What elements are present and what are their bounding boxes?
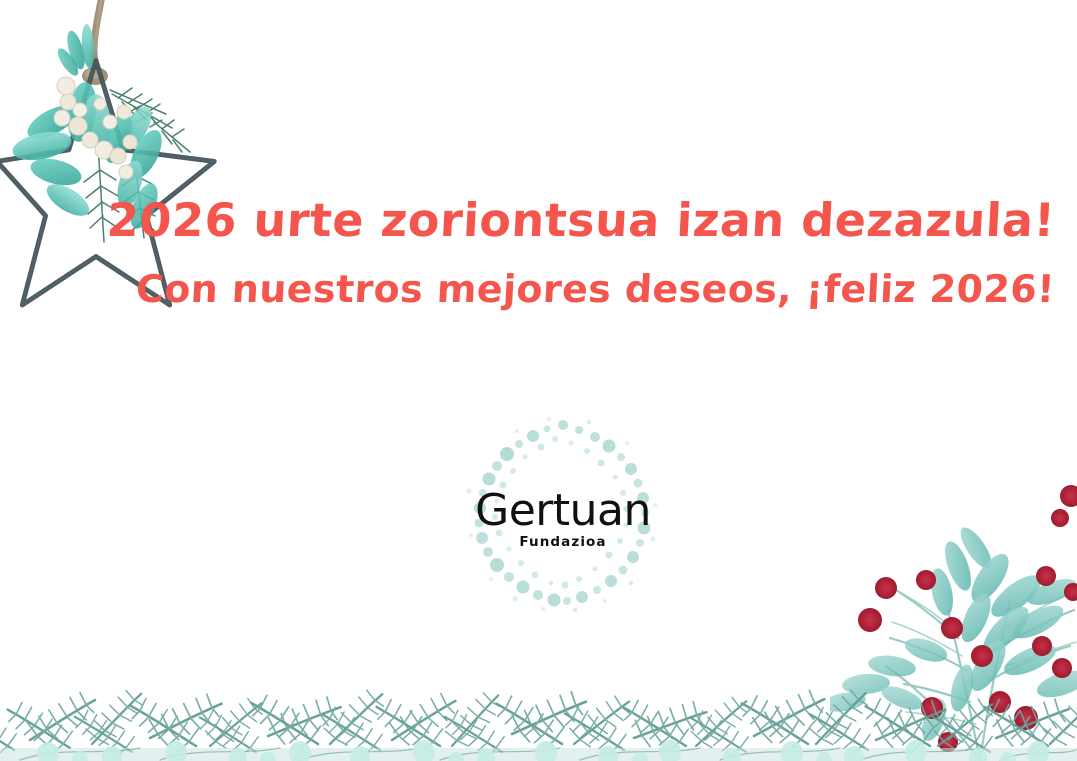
greeting-text-block: 2026 urte zoriontsua izan dezazula! Con … bbox=[0, 196, 1077, 310]
greeting-basque: 2026 urte zoriontsua izan dezazula! bbox=[106, 196, 1057, 244]
gertuan-logo: Gertuan Fundazioa bbox=[455, 413, 671, 619]
logo-subtitle: Fundazioa bbox=[455, 536, 671, 550]
logo-wordmark: Gertuan bbox=[455, 489, 671, 533]
greeting-spanish: Con nuestros mejores deseos, ¡feliz 2026… bbox=[135, 270, 1056, 310]
berry-branch-decoration bbox=[830, 470, 1077, 761]
greeting-card: 2026 urte zoriontsua izan dezazula! Con … bbox=[0, 0, 1077, 761]
pine-garland-border-decoration bbox=[0, 620, 1077, 761]
